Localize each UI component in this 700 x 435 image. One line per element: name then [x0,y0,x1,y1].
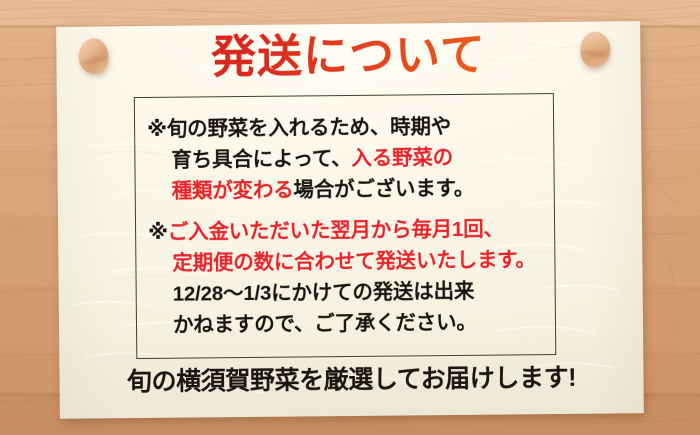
poster-content: 発送について ※旬の野菜を入れるため、時期や 育ち具合によって、入る野菜の 種類… [56,21,644,419]
notice-2-line-4: かねますので、ご了承ください。 [173,311,477,337]
tagline-highlight: 旬の横須賀野菜を厳選してお届けします! [125,358,579,398]
poster-canvas: 発送について ※旬の野菜を入れるため、時期や 育ち具合によって、入る野菜の 種類… [0,0,700,435]
notice-1-line-2-part-1: 育ち具合によって、 [171,147,351,172]
notice-2-line-2: 定期便の数に合わせて発送いたします。 [172,248,536,274]
tagline: 旬の横須賀野菜を厳選してお届けします! [59,357,643,399]
notice-item-2: ※ご入金いただいた翌月から毎月1回、 定期便の数に合わせて発送いたします。 12… [148,213,537,341]
notice-bullet-1: ※ [147,118,167,141]
notice-2-line-3: 12/28〜1/3にかけての発送は出来 [173,280,475,306]
notice-item-1: ※旬の野菜を入れるため、時期や 育ち具合によって、入る野菜の 種類が変わる場合が… [147,111,474,207]
notice-1-line-3-part-1: 種類が変わる [172,179,294,203]
paper-sheet: 発送について ※旬の野菜を入れるため、時期や 育ち具合によって、入る野菜の 種類… [56,21,644,419]
page-title: 発送について [56,29,640,83]
paper-surface: 発送について ※旬の野菜を入れるため、時期や 育ち具合によって、入る野菜の 種類… [56,21,644,419]
notice-bullet-2: ※ [148,221,168,244]
notice-1-line-1-part-1: 旬の野菜を入れるため、時期や [167,115,451,141]
notice-1-line-2-part-2: 入る野菜の [351,146,453,170]
notice-2-line-1: ご入金いただいた翌月から毎月1回、 [168,218,504,244]
notice-1-line-3-part-2: 場合がございます。 [293,177,474,202]
notice-box: ※旬の野菜を入れるため、時期や 育ち具合によって、入る野菜の 種類が変わる場合が… [134,93,556,359]
